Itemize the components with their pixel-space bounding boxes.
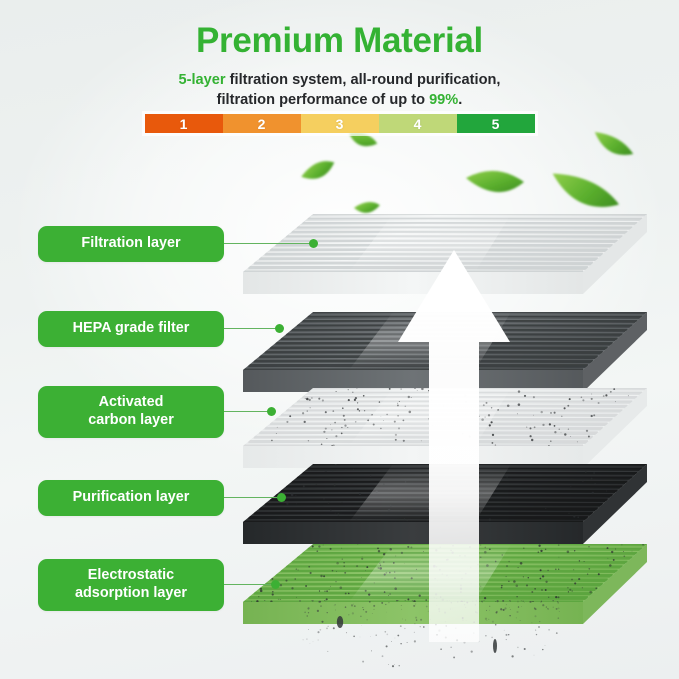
subtitle-line-2: filtration performance of up to 99%. — [0, 90, 679, 110]
page-title: Premium Material — [0, 22, 679, 61]
callout-purification-layer[interactable]: Purification layer — [38, 480, 286, 516]
callout-label-hepa-grade-filter[interactable]: HEPA grade filter — [38, 311, 224, 347]
filter-layer-stack — [243, 196, 679, 636]
subtitle-line-2-pre: filtration performance of up to — [217, 92, 429, 108]
callout-activated-carbon-layer[interactable]: Activated carbon layer — [38, 386, 276, 438]
subtitle-highlight-layers: 5-layer — [179, 72, 226, 88]
infographic-canvas: Premium Material 5-layer filtration syst… — [0, 0, 679, 679]
scale-bar-segment-5: 5 — [457, 114, 535, 133]
callout-leader-line — [224, 497, 278, 498]
subtitle: 5-layer filtration system, all-round pur… — [0, 70, 679, 110]
callout-leader-line — [224, 584, 272, 585]
callout-line: carbon layer — [54, 412, 208, 430]
callout-electrostatic-adsorption-layer[interactable]: Electrostatic adsorption layer — [38, 559, 280, 611]
callout-line: adsorption layer — [54, 585, 208, 603]
subtitle-line-1-rest: filtration system, all-round purificatio… — [226, 72, 501, 88]
scale-bar-segment-1: 1 — [145, 114, 223, 133]
callout-hepa-grade-filter[interactable]: HEPA grade filter — [38, 311, 284, 347]
subtitle-highlight-percent: 99% — [429, 92, 458, 108]
callout-leader-line — [224, 328, 276, 329]
scale-bar-segment-3: 3 — [301, 114, 379, 133]
callout-anchor-dot — [267, 407, 276, 416]
header: Premium Material 5-layer filtration syst… — [0, 0, 679, 110]
callout-label-purification-layer[interactable]: Purification layer — [38, 480, 224, 516]
filter-layer-electrostatic-adsorption-layer — [243, 540, 647, 644]
scale-bar-segment-2: 2 — [223, 114, 301, 133]
callout-anchor-dot — [275, 324, 284, 333]
scale-bar-segment-4: 4 — [379, 114, 457, 133]
callout-label-electrostatic-adsorption-layer[interactable]: Electrostatic adsorption layer — [38, 559, 224, 611]
callout-line: Purification layer — [54, 489, 208, 507]
subtitle-line-2-post: . — [458, 92, 462, 108]
callout-line: HEPA grade filter — [54, 320, 208, 338]
subtitle-line-1: 5-layer filtration system, all-round pur… — [0, 70, 679, 90]
callout-leader-line — [224, 243, 310, 244]
callout-label-activated-carbon-layer[interactable]: Activated carbon layer — [38, 386, 224, 438]
callout-line: Filtration layer — [54, 235, 208, 253]
callout-anchor-dot — [271, 580, 280, 589]
callout-label-filtration-layer[interactable]: Filtration layer — [38, 226, 224, 262]
scale-bar-segments: 12345 — [145, 114, 535, 133]
callout-filtration-layer[interactable]: Filtration layer — [38, 226, 318, 262]
callout-line: Activated — [54, 394, 208, 412]
callout-anchor-dot — [309, 239, 318, 248]
filtration-stage-scale-bar: 12345 — [142, 111, 538, 136]
callout-anchor-dot — [277, 493, 286, 502]
callout-leader-line — [224, 411, 268, 412]
callout-line: Electrostatic — [54, 567, 208, 585]
